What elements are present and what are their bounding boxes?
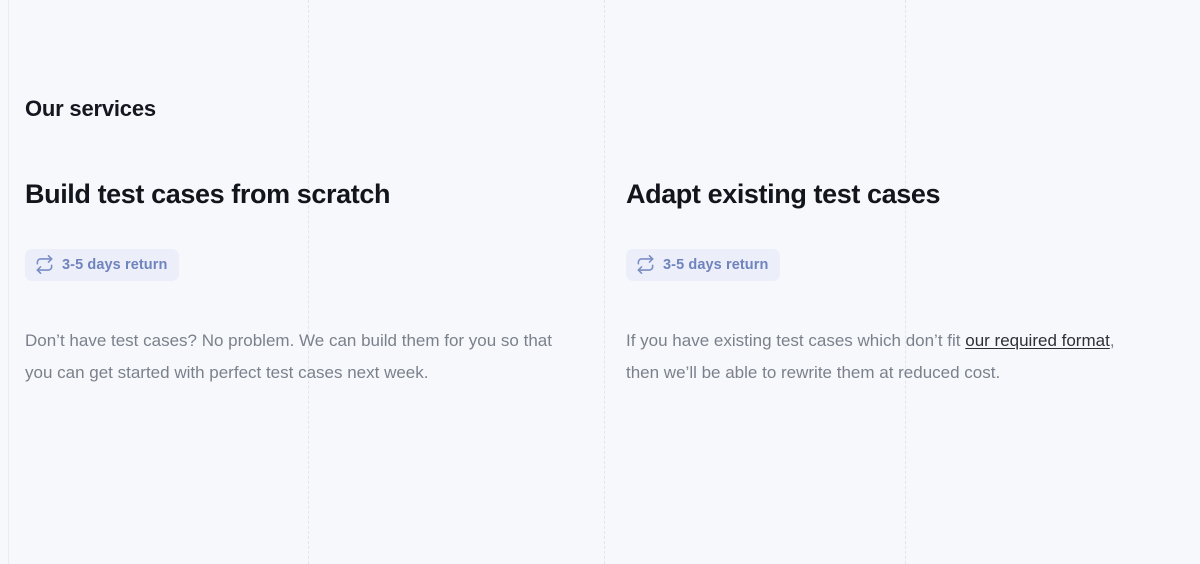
service-card-title: Build test cases from scratch [25,178,605,210]
service-card-adapt: Adapt existing test cases 3-5 days retur… [605,178,1185,405]
repeat-arrows-icon [635,255,655,275]
service-card-build: Build test cases from scratch 3-5 days r… [25,178,605,405]
service-card-description: If you have existing test cases which do… [626,325,1146,389]
section-title: Our services [25,96,1200,122]
service-card-title: Adapt existing test cases [626,178,1185,210]
services-content: Our services Build test cases from scrat… [0,0,1200,406]
repeat-arrows-icon [34,255,54,275]
service-cards: Build test cases from scratch 3-5 days r… [25,178,1200,405]
services-section: Our services Build test cases from scrat… [0,0,1200,564]
service-card-badge-row: 3-5 days return [626,249,1185,281]
description-text: Don’t have test cases? No problem. We ca… [25,331,552,382]
return-time-badge-label: 3-5 days return [663,258,768,273]
required-format-link[interactable]: our required format [965,331,1110,350]
service-card-description: Don’t have test cases? No problem. We ca… [25,325,565,389]
return-time-badge: 3-5 days return [626,249,780,281]
return-time-badge-label: 3-5 days return [62,258,167,273]
description-text-prefix: If you have existing test cases which do… [626,331,965,350]
return-time-badge: 3-5 days return [25,249,179,281]
service-card-badge-row: 3-5 days return [25,249,605,281]
